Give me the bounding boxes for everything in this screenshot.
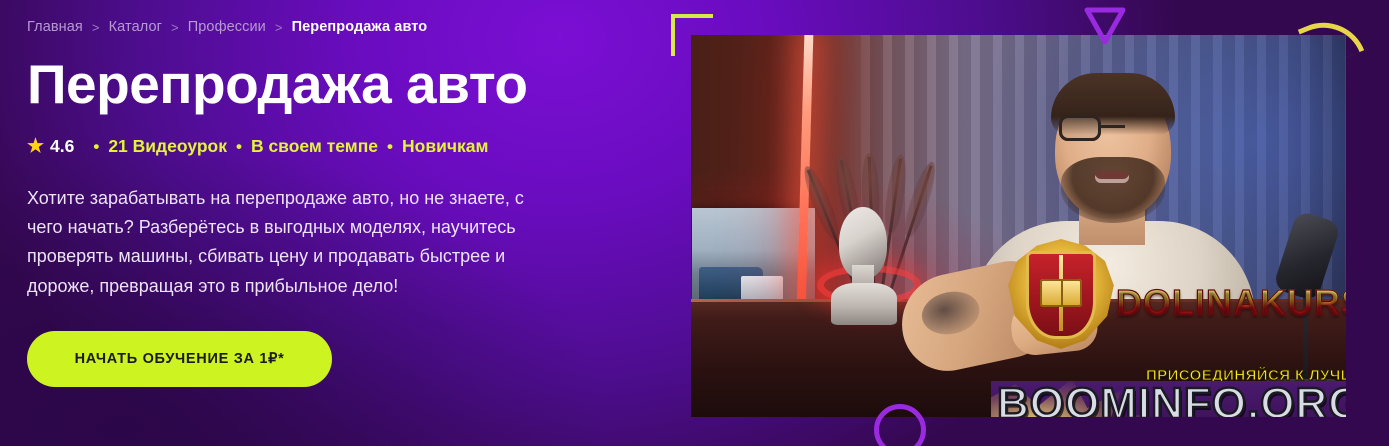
- breadcrumb-item-home[interactable]: Главная: [27, 19, 83, 35]
- dolinakursov-watermark: DOLINAKURSOV: [1002, 267, 1346, 339]
- presenter-beard: [1061, 157, 1165, 223]
- meta-item-lessons: 21 Видеоурок: [108, 136, 227, 157]
- boominfo-title: BOOMINFO.ORG: [997, 381, 1346, 417]
- breadcrumb-separator: >: [171, 20, 179, 35]
- david-bust-statue: [831, 207, 899, 325]
- course-description: Хотите зарабатывать на перепродаже авто,…: [27, 184, 547, 301]
- glasses-icon: [1059, 115, 1167, 141]
- bullet-separator: •: [93, 138, 99, 155]
- breadcrumb-item-catalog[interactable]: Каталог: [109, 19, 162, 35]
- star-icon: ★: [27, 137, 44, 156]
- rating-value: 4.6: [50, 136, 74, 157]
- hero-page: Главная > Каталог > Профессии > Перепрод…: [0, 0, 1389, 446]
- presenter-mouth: [1095, 171, 1129, 183]
- breadcrumb: Главная > Каталог > Профессии > Перепрод…: [27, 19, 667, 35]
- hero-left-column: Главная > Каталог > Профессии > Перепрод…: [27, 0, 667, 446]
- dolinakursov-title: DOLINAKURSOV: [1116, 282, 1346, 324]
- meta-item-pace: В своем темпе: [251, 136, 378, 157]
- video-thumbnail[interactable]: DOLINAKURSOV ПРИСОЕДИНЯЙСЯ К ЛУЧШИМ! BOO…: [691, 35, 1346, 417]
- shield-emblem-icon: [1002, 235, 1120, 353]
- breadcrumb-separator: >: [275, 20, 283, 35]
- meta-item-level: Новичкам: [402, 136, 488, 157]
- corner-bracket-decoration: [671, 14, 713, 56]
- triangle-outline-decoration: [1081, 6, 1129, 46]
- boominfo-watermark: BOOMINFO.ORG 🦇🦇 ОГРОМНЫЙ ВЫБОР КУРСОВ, Т…: [991, 381, 1346, 417]
- breadcrumb-separator: >: [92, 20, 100, 35]
- course-meta-row: ★ 4.6 • 21 Видеоурок • В своем темпе • Н…: [27, 136, 667, 157]
- breadcrumb-item-current: Перепродажа авто: [292, 19, 428, 35]
- page-title: Перепродажа авто: [27, 56, 667, 112]
- start-course-button[interactable]: НАЧАТЬ ОБУЧЕНИЕ ЗА 1₽*: [27, 331, 332, 387]
- bullet-separator: •: [236, 138, 242, 155]
- course-video-player[interactable]: DOLINAKURSOV ПРИСОЕДИНЯЙСЯ К ЛУЧШИМ! BOO…: [691, 35, 1346, 417]
- bullet-separator: •: [387, 138, 393, 155]
- breadcrumb-item-professions[interactable]: Профессии: [188, 19, 266, 35]
